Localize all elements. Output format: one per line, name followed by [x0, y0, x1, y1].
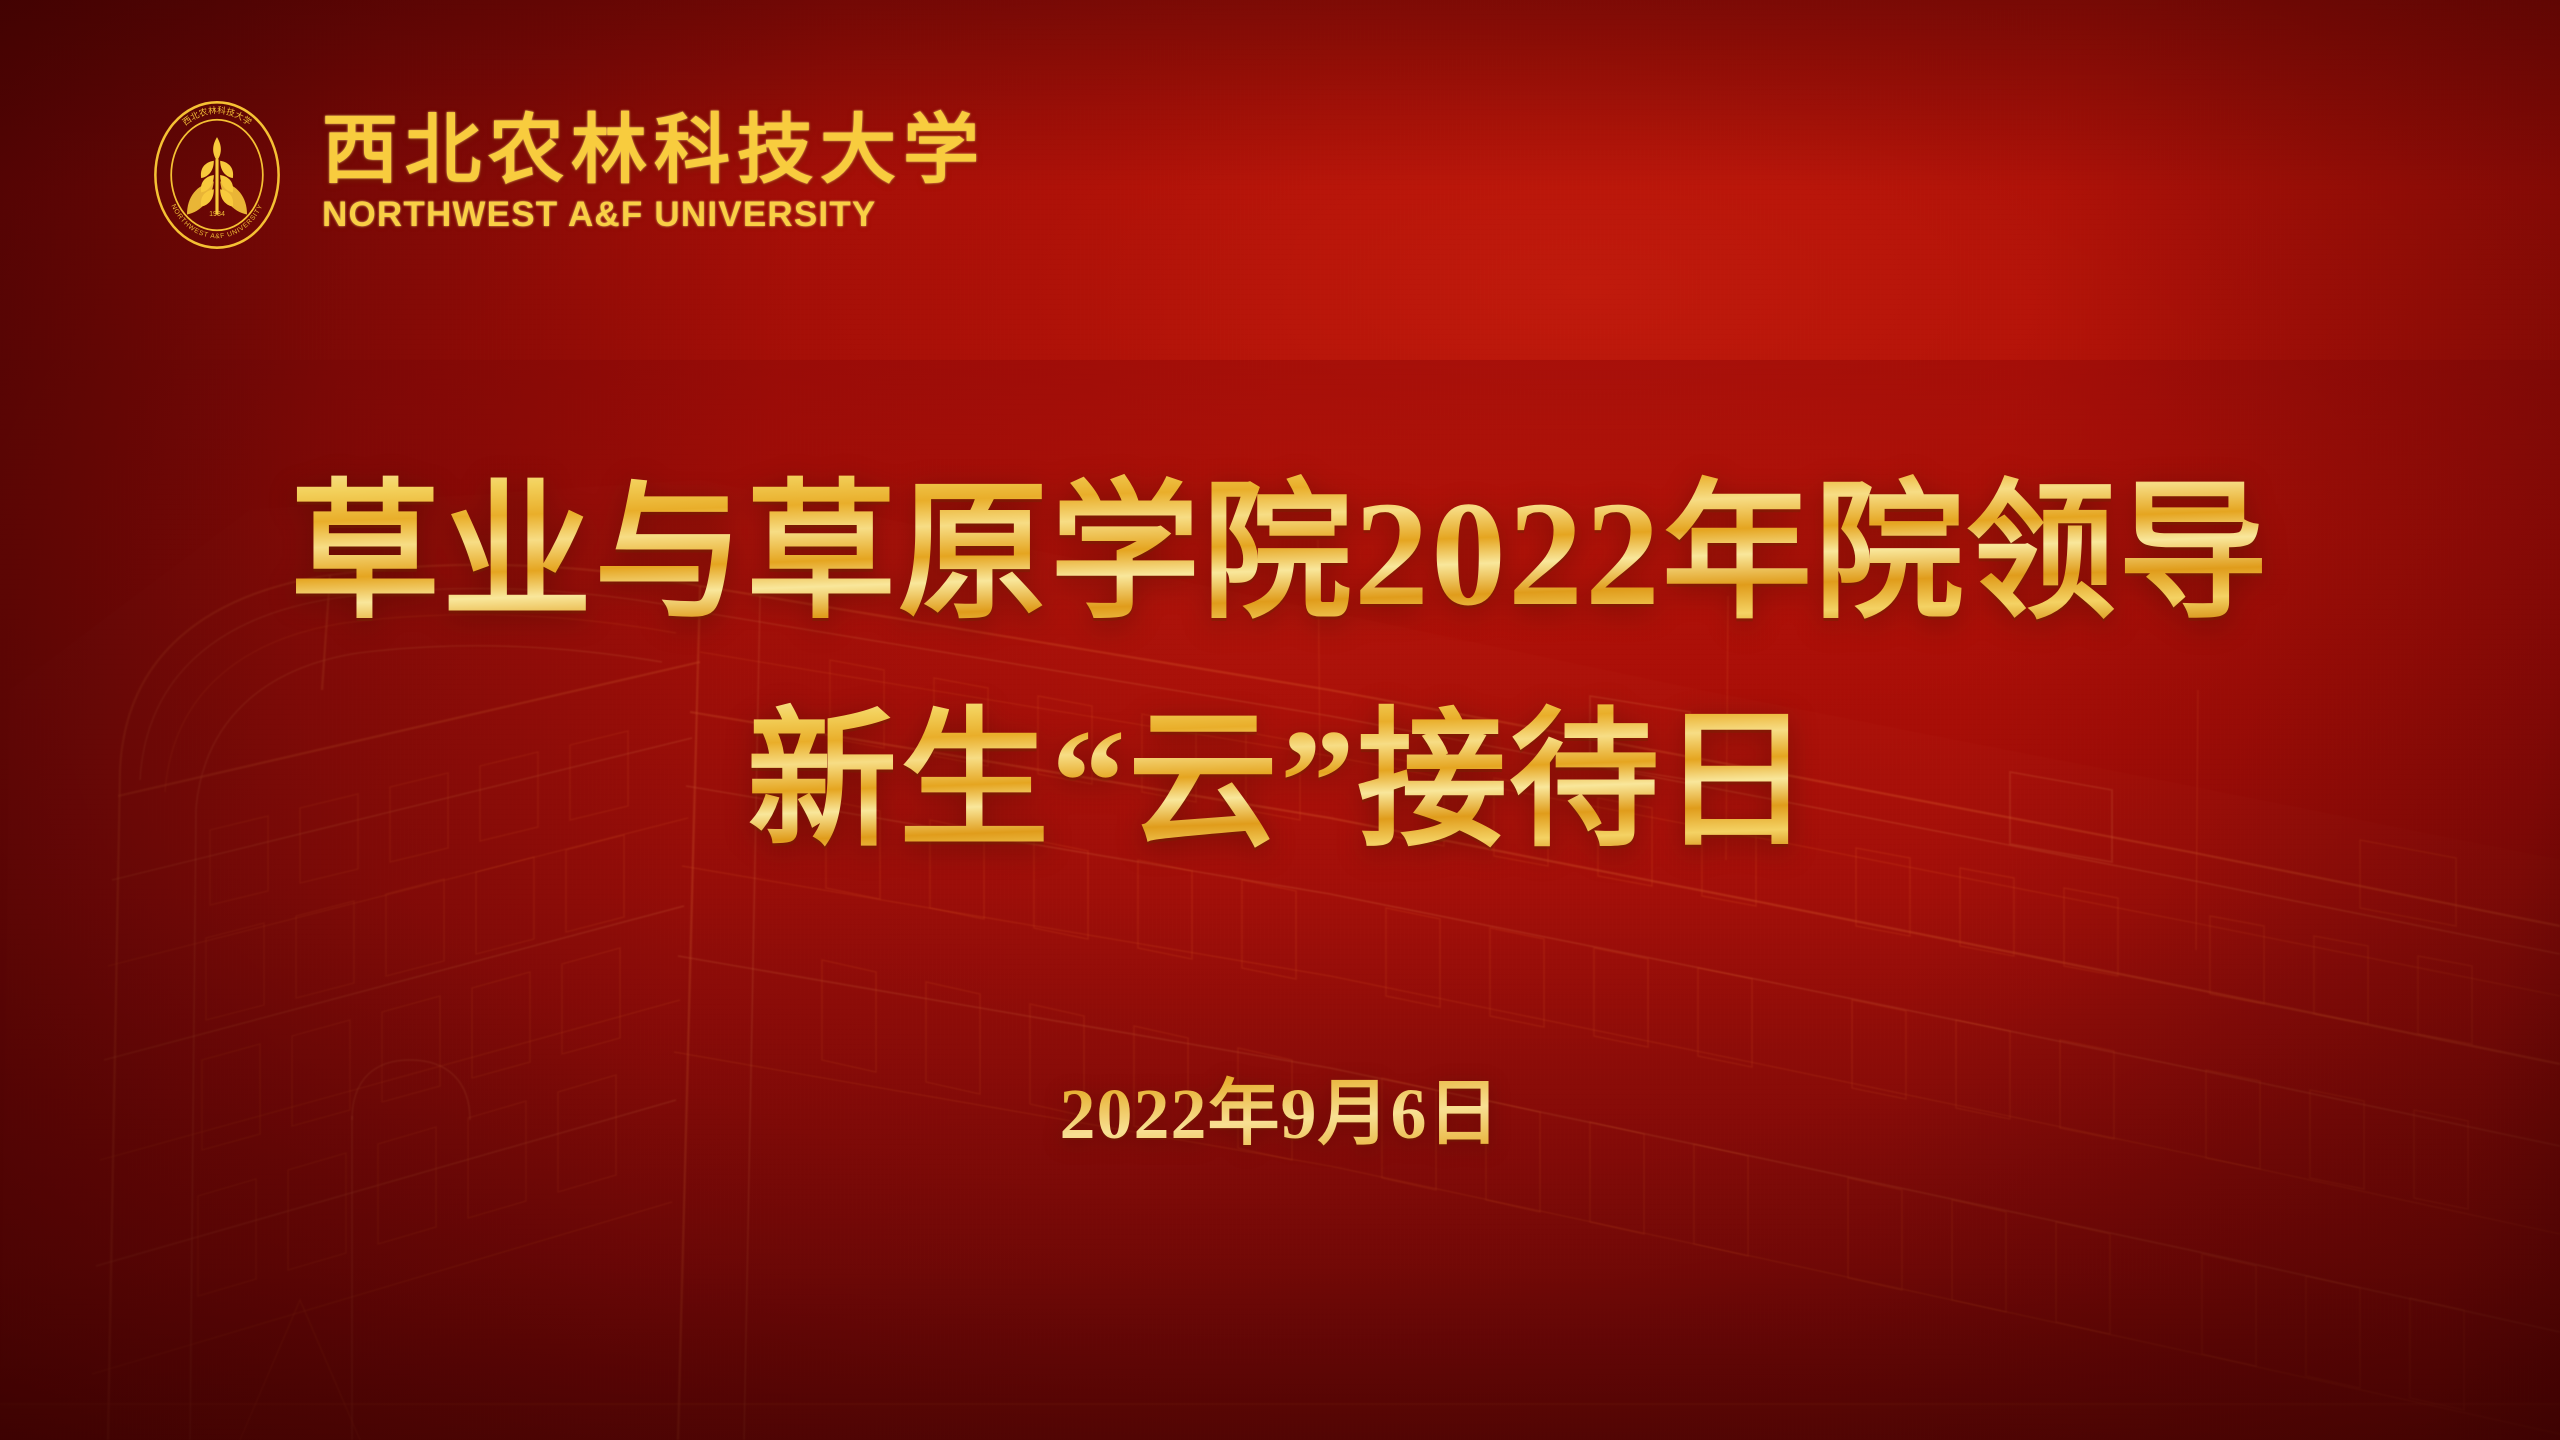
event-headline: 草业与草原学院2022年院领导 新生“云”接待日 [0, 440, 2560, 896]
headline-line-2-wrap: 新生“云”接待日 [747, 668, 1813, 896]
university-wordmark: 西北农林科技大学 NORTHWEST A&F UNIVERSITY [322, 113, 986, 238]
university-seal-icon: 西北农林科技大学 NORTHWEST A&F UNIVERSITY 1934 [138, 96, 296, 254]
university-name-cn: 西北农林科技大学 [322, 113, 986, 189]
event-date: 2022年9月6日 [0, 1068, 2560, 1162]
university-name-en: NORTHWEST A&F UNIVERSITY [322, 197, 986, 234]
headline-line-1-wrap: 草业与草原学院2022年院领导 [290, 440, 2270, 668]
headline-line-2-row: 新生“云”接待日 [0, 668, 2560, 896]
slide-canvas: 西北农林科技大学 NORTHWEST A&F UNIVERSITY 1934 [0, 0, 2560, 1440]
headline-line-1-row: 草业与草原学院2022年院领导 [0, 440, 2560, 668]
headline-line-1: 草业与草原学院2022年院领导 [290, 471, 2270, 637]
headline-line-2: 新生“云”接待日 [747, 699, 1813, 865]
university-logo-lockup: 西北农林科技大学 NORTHWEST A&F UNIVERSITY 1934 [138, 96, 986, 254]
